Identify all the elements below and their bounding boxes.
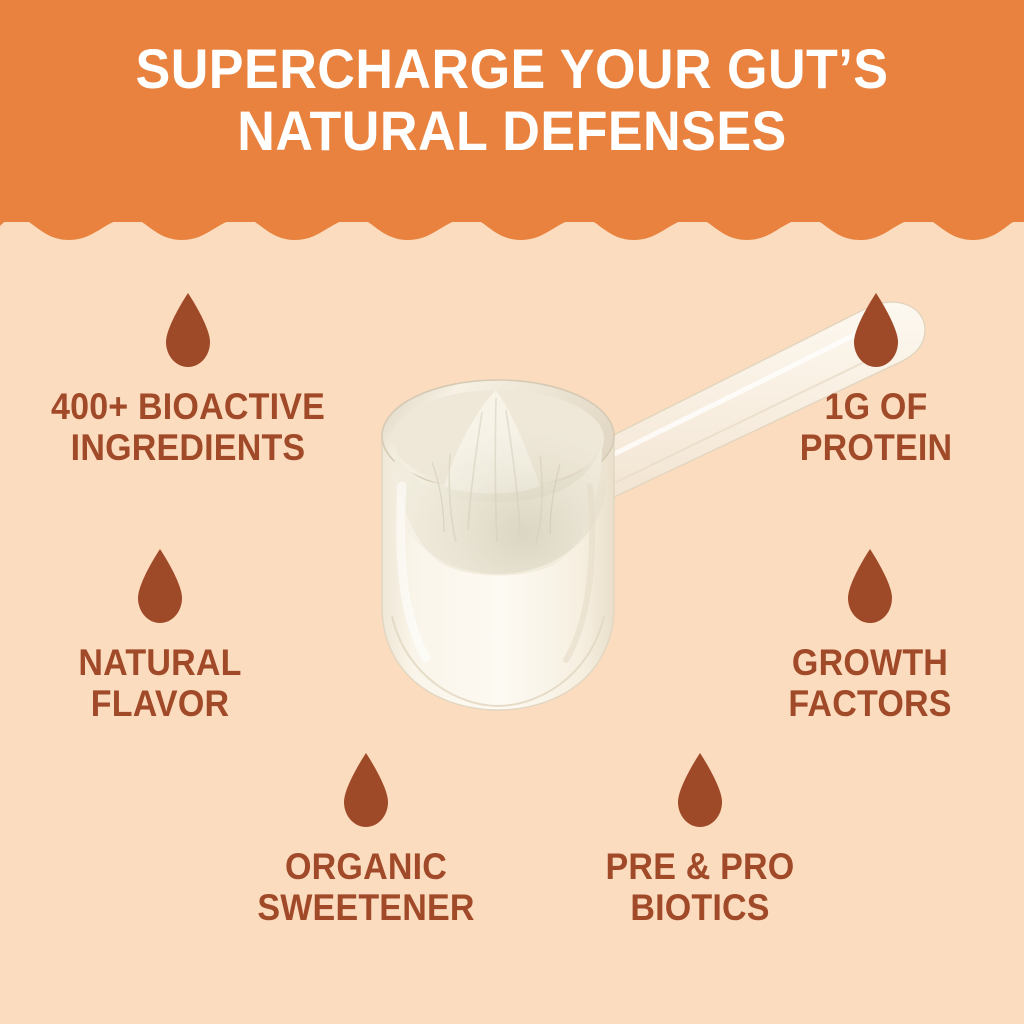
benefit-item-probiotics: PRE & PRO BIOTICS: [530, 752, 870, 928]
droplet-icon: [134, 548, 186, 624]
benefit-item-sweetener: ORGANIC SWEETENER: [196, 752, 536, 928]
droplet-icon: [674, 752, 726, 828]
droplet-icon-wrap: [530, 752, 870, 832]
droplet-icon: [162, 292, 214, 368]
droplet-icon-wrap: [196, 752, 536, 832]
droplet-icon-wrap: [0, 548, 330, 628]
droplet-icon: [340, 752, 392, 828]
droplet-icon-wrap: [706, 292, 1024, 372]
benefit-label: 400+ BIOACTIVE INGREDIENTS: [32, 386, 345, 468]
scalloped-edge-divider: [0, 210, 1024, 256]
droplet-icon-wrap: [18, 292, 358, 372]
droplet-icon: [844, 548, 896, 624]
promo-graphic: SUPERCHARGE YOUR GUT’S NATURAL DEFENSES: [0, 0, 1024, 1024]
benefit-label: ORGANIC SWEETENER: [210, 846, 523, 928]
benefit-item-bioactive: 400+ BIOACTIVE INGREDIENTS: [18, 292, 358, 468]
page-title: SUPERCHARGE YOUR GUT’S NATURAL DEFENSES: [36, 38, 988, 162]
droplet-icon: [850, 292, 902, 368]
droplet-icon-wrap: [700, 548, 1024, 628]
benefit-label: 1G OF PROTEIN: [720, 386, 1024, 468]
benefit-item-flavor: NATURAL FLAVOR: [0, 548, 330, 724]
benefit-label: PRE & PRO BIOTICS: [544, 846, 857, 928]
benefit-label: NATURAL FLAVOR: [4, 642, 317, 724]
benefit-item-protein: 1G OF PROTEIN: [706, 292, 1024, 468]
benefit-label: GROWTH FACTORS: [714, 642, 1024, 724]
benefit-item-growth: GROWTH FACTORS: [700, 548, 1024, 724]
